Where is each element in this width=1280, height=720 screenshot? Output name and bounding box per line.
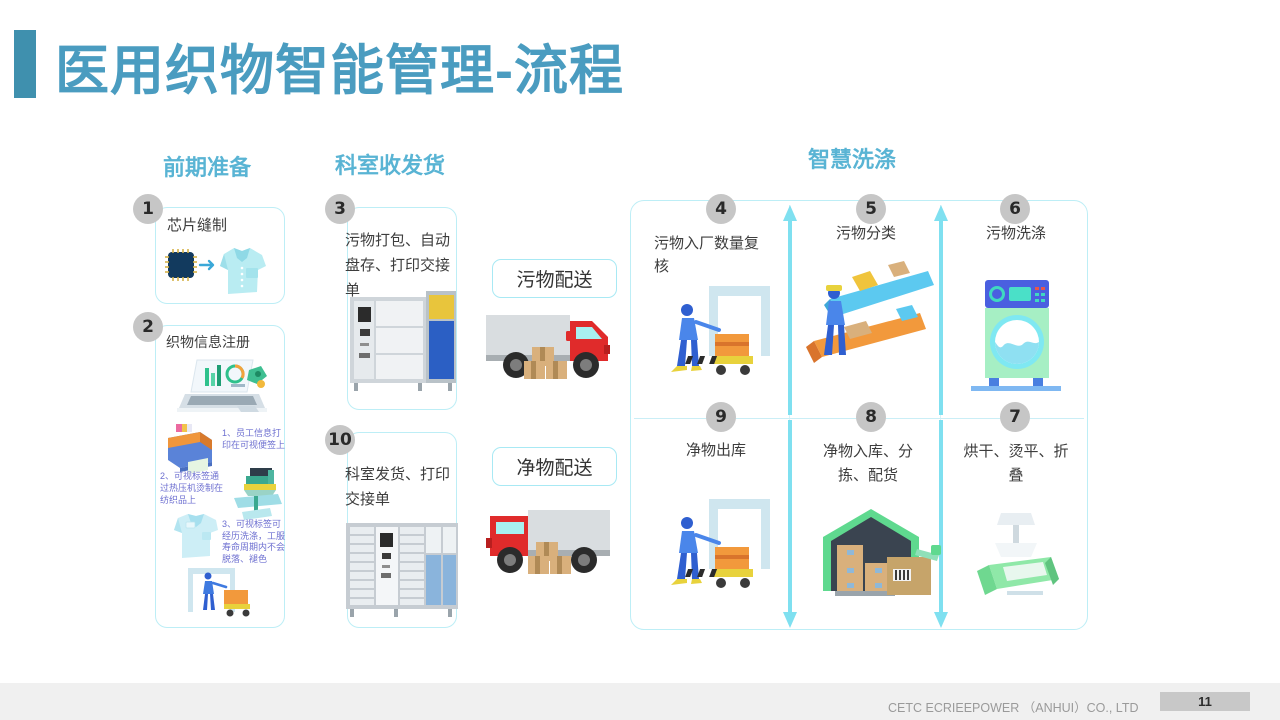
page-title: 医用织物智能管理-流程 (55, 26, 624, 105)
step-number-10: 10 (325, 425, 355, 455)
note-1: 1、员工信息打印在可视便签上 (222, 427, 286, 451)
step-number-9: 9 (706, 402, 736, 432)
page-number: 11 (1160, 692, 1250, 711)
clean-delivery-truck-illustration (480, 500, 632, 590)
step-number-5: 5 (856, 194, 886, 224)
note-2: 2、可视标签通过热压机烫制在纺织品上 (160, 470, 224, 506)
step-number-4: 4 (706, 194, 736, 224)
step-number-3: 3 (325, 194, 355, 224)
chip-to-garment-illustration (162, 238, 282, 300)
locker-wall-illustration (338, 515, 466, 623)
step-number-7: 7 (1000, 402, 1030, 432)
card-label-dirty-sorting: 污物分类 (810, 223, 922, 245)
card-label-fabric-registration: 织物信息注册 (166, 331, 281, 353)
outbound-scanner-worker-illustration (655, 495, 775, 607)
card-label-drying-ironing: 烘干、烫平、折叠 (960, 440, 1072, 488)
section-header-preparation: 前期准备 (163, 150, 251, 182)
note-3: 3、可视标签可经历洗涤，工服寿命周期内不会脱落、褪色 (222, 519, 286, 565)
step-number-6: 6 (1000, 194, 1030, 224)
worker-with-trolley-illustration (186, 566, 260, 622)
flow-arrow-down-1 (783, 420, 791, 628)
heat-press-machine-illustration (228, 464, 284, 520)
pill-dirty-delivery[interactable]: 污物配送 (492, 259, 617, 298)
card-label-dept-dispatch: 科室发货、打印交接单 (345, 462, 461, 512)
card-label-chip-sewing: 芯片缝制 (167, 215, 277, 237)
intake-scanner-worker-illustration (655, 282, 775, 394)
step-number-8: 8 (856, 402, 886, 432)
step-number-1: 1 (133, 194, 163, 224)
washed-garment-illustration (160, 512, 220, 564)
pill-clean-delivery[interactable]: 净物配送 (492, 447, 617, 486)
card-label-dirty-washing: 污物洗涤 (960, 223, 1072, 245)
washing-machine-illustration (963, 268, 1069, 394)
section-header-department: 科室收发货 (335, 148, 445, 180)
folding-machine-illustration (965, 505, 1075, 605)
card-label-clean-outbound: 净物出库 (660, 440, 772, 462)
card-label-clean-inbound: 净物入库、分拣、配货 (812, 440, 924, 488)
dirty-delivery-truck-illustration (480, 305, 632, 395)
footer-company-text: CETC ECRIEEPOWER （ANHUI）CO., LTD (888, 697, 1138, 716)
computer-registration-illustration (175, 356, 271, 418)
card-label-dirty-intake: 污物入厂数量复核 (654, 232, 769, 278)
flow-arrow-up-1 (783, 205, 791, 415)
title-accent-bar (14, 30, 36, 98)
step-number-2: 2 (133, 312, 163, 342)
smart-locker-cabinet-illustration (340, 285, 464, 397)
sorting-conveyor-illustration (800, 255, 940, 391)
warehouse-storage-illustration (805, 495, 945, 607)
section-header-washing: 智慧洗涤 (808, 142, 896, 174)
